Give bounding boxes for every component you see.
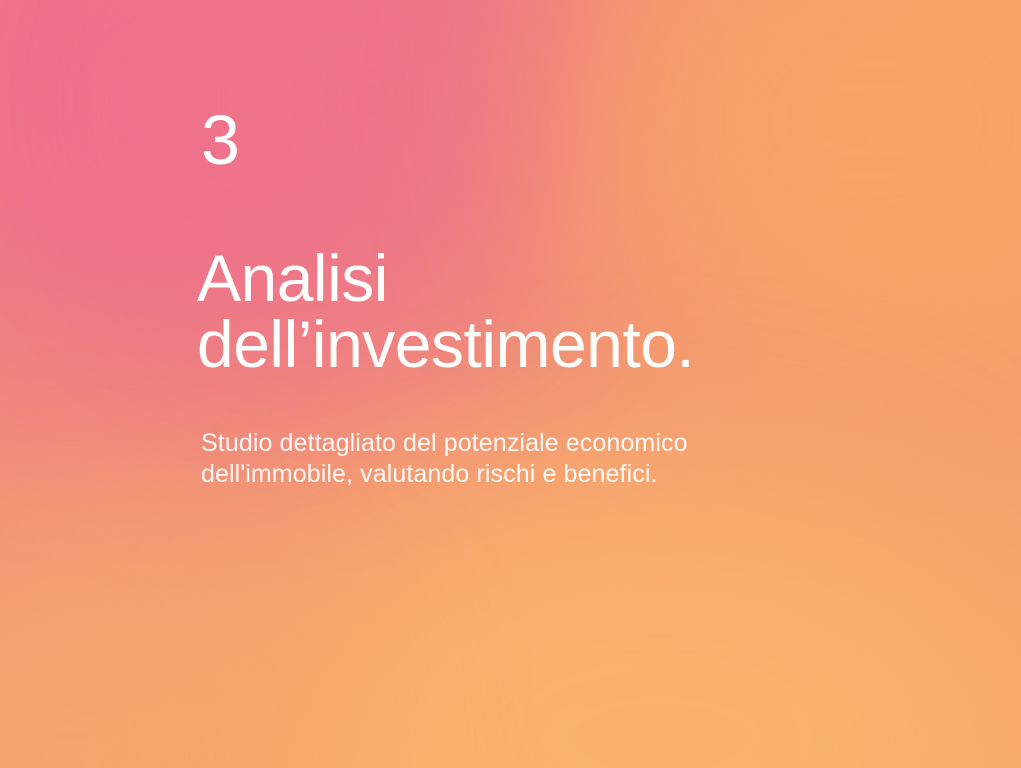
slide-content: 3 Analisi dell’investimento. Studio dett…: [201, 0, 921, 768]
slide-subtitle: Studio dettagliato del potenziale econom…: [201, 428, 688, 490]
section-number: 3: [201, 105, 240, 175]
page-title: Analisi dell’investimento.: [197, 245, 694, 377]
slide-canvas: 3 Analisi dell’investimento. Studio dett…: [0, 0, 1021, 768]
